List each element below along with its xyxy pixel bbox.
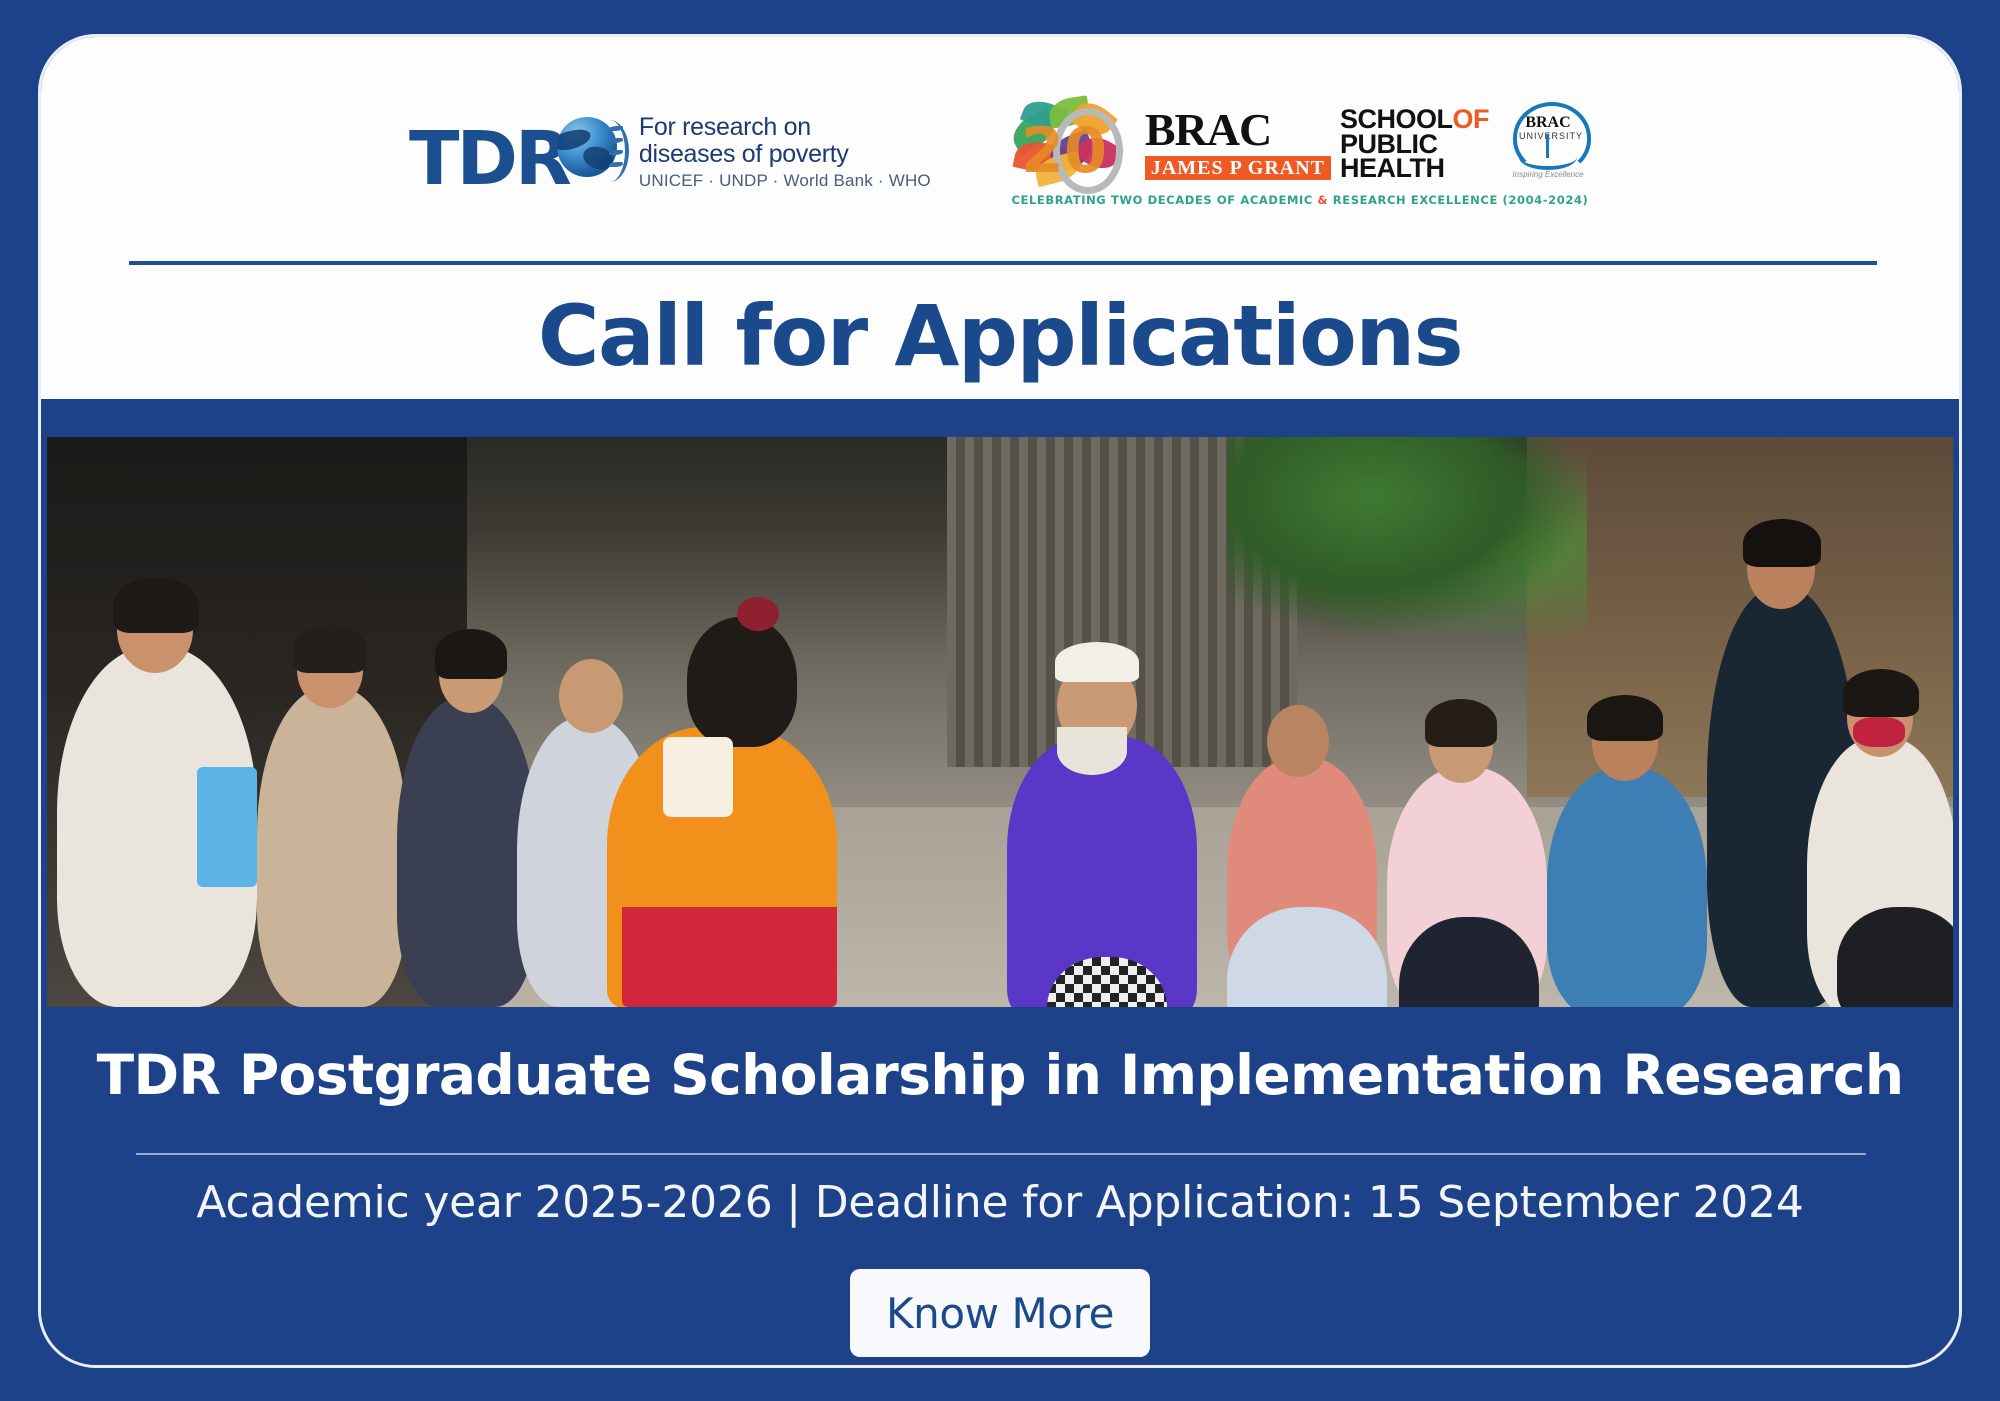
school-of-public-health-block: SCHOOLOF PUBLIC HEALTH [1340, 107, 1489, 181]
tdr-logo: TDR For research on diseases of poverty … [409, 114, 931, 190]
tdr-wordmark-group: TDR [409, 115, 627, 189]
header-section: TDR For research on diseases of poverty … [41, 37, 1959, 399]
brac-founder-band: JAMES P GRANT [1145, 156, 1331, 180]
community-research-photo [47, 437, 1953, 1007]
brac-name-block: BRAC JAMES P GRANT [1145, 107, 1331, 180]
caption-pre: CELEBRATING TWO DECADES OF ACADEMIC [1011, 193, 1317, 207]
brac-logo-row: 20 BRAC JAMES P GRANT SCHOOLOF PUBLIC [1009, 98, 1591, 190]
know-more-button[interactable]: Know More [850, 1269, 1150, 1357]
tdr-tagline-group: For research on diseases of poverty UNIC… [639, 114, 931, 190]
seal-tagline: Inspiring Excellence [1505, 170, 1591, 179]
seal-line-1: BRAC [1525, 114, 1571, 132]
program-details: Academic year 2025-2026 | Deadline for A… [41, 1177, 1959, 1228]
open-book-icon [1519, 144, 1577, 170]
footer-divider [136, 1153, 1866, 1155]
logo-bar: TDR For research on diseases of poverty … [41, 85, 1959, 220]
school-of-word: OF [1453, 104, 1490, 134]
anniversary-20-icon: 20 [1009, 98, 1129, 190]
school-line-1: SCHOOLOF [1340, 107, 1489, 132]
photo-frame [41, 399, 1959, 1019]
brac-logo: 20 BRAC JAMES P GRANT SCHOOLOF PUBLIC [1009, 98, 1591, 207]
tdr-tagline-line2: diseases of poverty [639, 141, 931, 168]
header-divider [129, 261, 1877, 265]
brac-wordmark: BRAC [1145, 107, 1331, 153]
tdr-wordmark: TDR [409, 129, 569, 190]
footer-section: TDR Postgraduate Scholarship in Implemen… [41, 1019, 1959, 1368]
brac-university-seal-icon: BRAC UNIVERSITY Inspiring Excellence [1505, 100, 1591, 188]
anniversary-caption: CELEBRATING TWO DECADES OF ACADEMIC & RE… [1011, 193, 1588, 207]
caption-amp: & [1318, 193, 1329, 207]
tdr-globe-icon [553, 115, 627, 189]
school-line-3: HEALTH [1340, 156, 1489, 181]
tdr-tagline-line1: For research on [639, 114, 931, 141]
poster-card: TDR For research on diseases of poverty … [38, 34, 1962, 1368]
tdr-partners: UNICEF · UNDP · World Bank · WHO [639, 172, 931, 190]
caption-post: RESEARCH EXCELLENCE (2004-2024) [1328, 193, 1588, 207]
anniversary-number: 20 [1021, 114, 1107, 187]
page-title: Call for Applications [41, 287, 1959, 385]
brac-school-mark: BRAC JAMES P GRANT SCHOOLOF PUBLIC HEALT… [1145, 107, 1489, 181]
program-title: TDR Postgraduate Scholarship in Implemen… [41, 1043, 1959, 1107]
